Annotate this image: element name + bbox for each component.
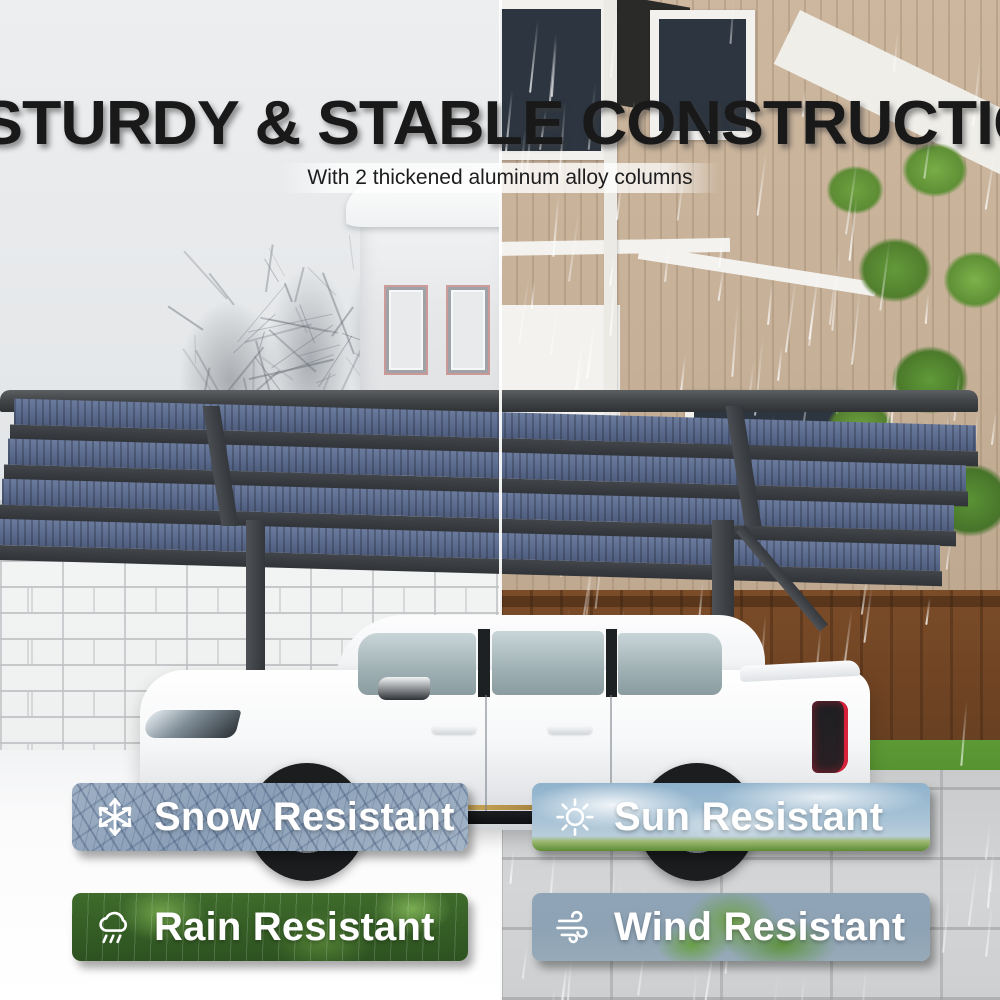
page-title: STURDY & STABLE CONSTRUCTION — [0, 88, 1000, 159]
product-feature-image: STURDY & STABLE CONSTRUCTION With 2 thic… — [0, 0, 1000, 1000]
car-taillight — [812, 701, 848, 773]
car-b-pillar — [478, 629, 490, 697]
house-window — [386, 287, 426, 373]
car-door-line — [485, 695, 487, 811]
badge-label: Wind Resistant — [614, 905, 905, 950]
subtitle-container: With 2 thickened aluminum alloy columns — [0, 163, 1000, 193]
badge-label: Sun Resistant — [614, 795, 883, 840]
car-window-quarter — [618, 633, 722, 695]
badge-snow-resistant[interactable]: Snow Resistant — [72, 783, 468, 851]
badge-sun-resistant[interactable]: Sun Resistant — [532, 783, 930, 851]
sun-icon — [552, 794, 598, 840]
badge-label: Snow Resistant — [154, 795, 455, 840]
snowflake-icon — [92, 794, 138, 840]
car-window-rear — [492, 631, 604, 695]
car-door-handle — [548, 725, 592, 734]
badge-rain-resistant[interactable]: Rain Resistant — [72, 893, 468, 961]
car-door-handle — [432, 725, 476, 734]
car-headlight — [143, 710, 242, 738]
car-c-pillar — [606, 629, 617, 697]
car-side-mirror — [378, 677, 430, 700]
house-window — [448, 287, 488, 373]
badge-label: Rain Resistant — [154, 905, 435, 950]
wind-icon — [552, 904, 598, 950]
white-suv — [140, 615, 870, 895]
rain-cloud-icon — [92, 904, 138, 950]
badge-wind-resistant[interactable]: Wind Resistant — [532, 893, 930, 961]
page-subtitle: With 2 thickened aluminum alloy columns — [281, 163, 718, 193]
